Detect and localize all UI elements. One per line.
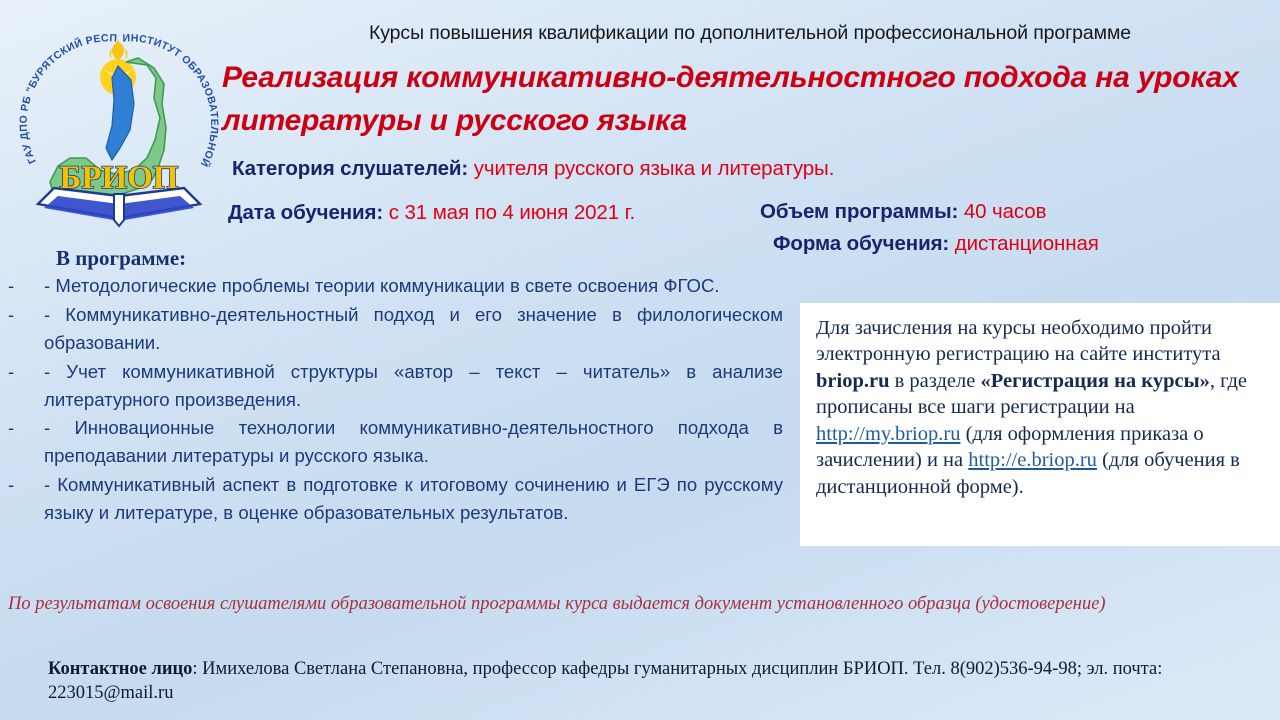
audience-category-label: Категория слушателей: (232, 157, 468, 180)
page-title: Реализация коммуникативно-деятельностног… (222, 57, 1272, 142)
training-date-line: Дата обучения: с 31 мая по 4 июня 2021 г… (228, 201, 635, 225)
list-bullet: - (8, 358, 44, 386)
list-item-text: - Инновационные технологии коммуникативн… (44, 414, 783, 470)
open-book-icon (38, 188, 200, 226)
registration-link-my-briop[interactable]: http://my.briop.ru (816, 423, 960, 445)
training-date-value: с 31 мая по 4 июня 2021 г. (389, 201, 635, 224)
list-item: - - Учет коммуникативной структуры «авто… (8, 358, 783, 414)
contact-details: : Имихелова Светлана Степановна, професс… (48, 659, 1162, 703)
registration-part1: Для зачисления на курсы необходимо пройт… (816, 317, 1221, 365)
program-list: - - Методологические проблемы теории ком… (8, 272, 783, 528)
course-announcement-poster: ГАУ ДПО РБ "БУРЯТСКИЙ РЕСПУБЛИКАНСКИЙ ИН… (0, 0, 1280, 720)
list-item-text: - Коммуникативно-деятельностный подход и… (44, 301, 783, 357)
registration-part2: в разделе (889, 370, 980, 392)
program-volume-line: Объем программы: 40 часов (760, 200, 1046, 224)
list-bullet: - (8, 414, 44, 442)
briop-logo: ГАУ ДПО РБ "БУРЯТСКИЙ РЕСПУБЛИКАНСКИЙ ИН… (14, 18, 224, 233)
registration-info-box: Для зачисления на курсы необходимо пройт… (800, 303, 1280, 546)
course-kicker: Курсы повышения квалификации по дополнит… (230, 22, 1270, 45)
briop-logo-svg: ГАУ ДПО РБ "БУРЯТСКИЙ РЕСПУБЛИКАНСКИЙ ИН… (14, 18, 224, 233)
list-item: - - Коммуникативно-деятельностный подход… (8, 301, 783, 357)
registration-info-text: Для зачисления на курсы необходимо пройт… (816, 315, 1266, 500)
list-bullet: - (8, 301, 44, 329)
training-form-line: Форма обучения: дистанционная (773, 232, 1099, 256)
result-document-note: По результатам освоения слушателями обра… (8, 592, 1272, 616)
program-heading: В программе: (56, 246, 186, 271)
list-bullet: - (8, 272, 44, 300)
program-volume-label: Объем программы: (760, 200, 958, 223)
training-form-value: дистанционная (955, 232, 1099, 255)
contact-block: Контактное лицо: Имихелова Светлана Степ… (48, 657, 1273, 706)
program-volume-value: 40 часов (964, 200, 1047, 223)
list-item: - - Методологические проблемы теории ком… (8, 272, 783, 300)
contact-label: Контактное лицо (48, 659, 192, 679)
registration-section-name: «Регистрация на курсы» (980, 370, 1209, 392)
list-item-text: - Методологические проблемы теории комму… (44, 272, 783, 300)
audience-category-line: Категория слушателей: учителя русского я… (232, 157, 834, 181)
registration-site: briop.ru (816, 370, 889, 392)
list-item-text: - Коммуникативный аспект в подготовке к … (44, 471, 783, 527)
registration-link-e-briop[interactable]: http://e.briop.ru (968, 449, 1097, 471)
list-item: - - Коммуникативный аспект в подготовке … (8, 471, 783, 527)
list-item: - - Инновационные технологии коммуникати… (8, 414, 783, 470)
training-form-label: Форма обучения: (773, 232, 949, 255)
list-bullet: - (8, 471, 44, 499)
training-date-label: Дата обучения: (228, 201, 383, 224)
svg-text:ГАУ ДПО РБ "БУРЯТСКИЙ РЕСПУБЛИ: ГАУ ДПО РБ "БУРЯТСКИЙ РЕСПУБЛИКАНСКИЙ (14, 18, 118, 166)
list-item-text: - Учет коммуникативной структуры «автор … (44, 358, 783, 414)
audience-category-value: учителя русского языка и литературы. (474, 157, 835, 180)
